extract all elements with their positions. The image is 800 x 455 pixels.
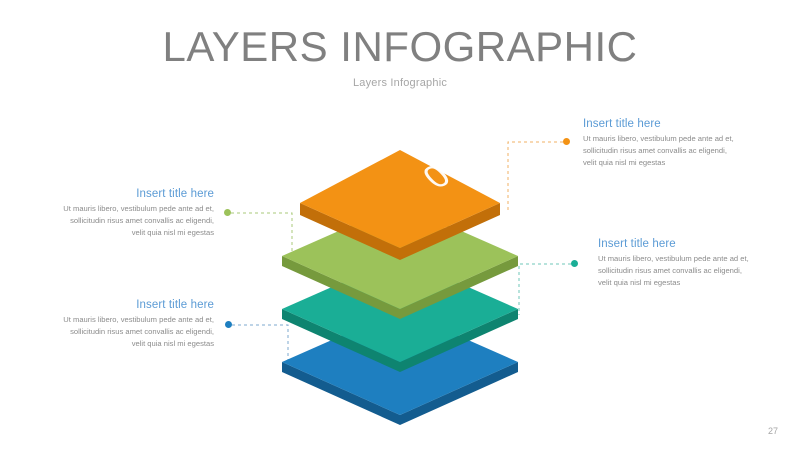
callout-01-title: Insert title here bbox=[62, 299, 214, 311]
connector-dot-02[interactable] bbox=[571, 260, 578, 267]
callout-03[interactable]: Insert title here Ut mauris libero, vest… bbox=[62, 188, 214, 238]
connector-dot-03[interactable] bbox=[224, 209, 231, 216]
callout-04[interactable]: Insert title here Ut mauris libero, vest… bbox=[583, 118, 735, 168]
callout-01-body: Ut mauris libero, vestibulum pede ante a… bbox=[62, 314, 214, 349]
connector-dot-01[interactable] bbox=[225, 321, 232, 328]
callout-01[interactable]: Insert title here Ut mauris libero, vest… bbox=[62, 299, 214, 349]
connector-dot-04[interactable] bbox=[563, 138, 570, 145]
callout-02-body: Ut mauris libero, vestibulum pede ante a… bbox=[598, 253, 750, 288]
callout-03-title: Insert title here bbox=[62, 188, 214, 200]
callout-02[interactable]: Insert title here Ut mauris libero, vest… bbox=[598, 238, 750, 288]
callout-03-body: Ut mauris libero, vestibulum pede ante a… bbox=[62, 203, 214, 238]
callout-04-body: Ut mauris libero, vestibulum pede ante a… bbox=[583, 133, 735, 168]
callout-04-title: Insert title here bbox=[583, 118, 735, 130]
callout-02-title: Insert title here bbox=[598, 238, 750, 250]
page-number: 27 bbox=[768, 426, 778, 436]
